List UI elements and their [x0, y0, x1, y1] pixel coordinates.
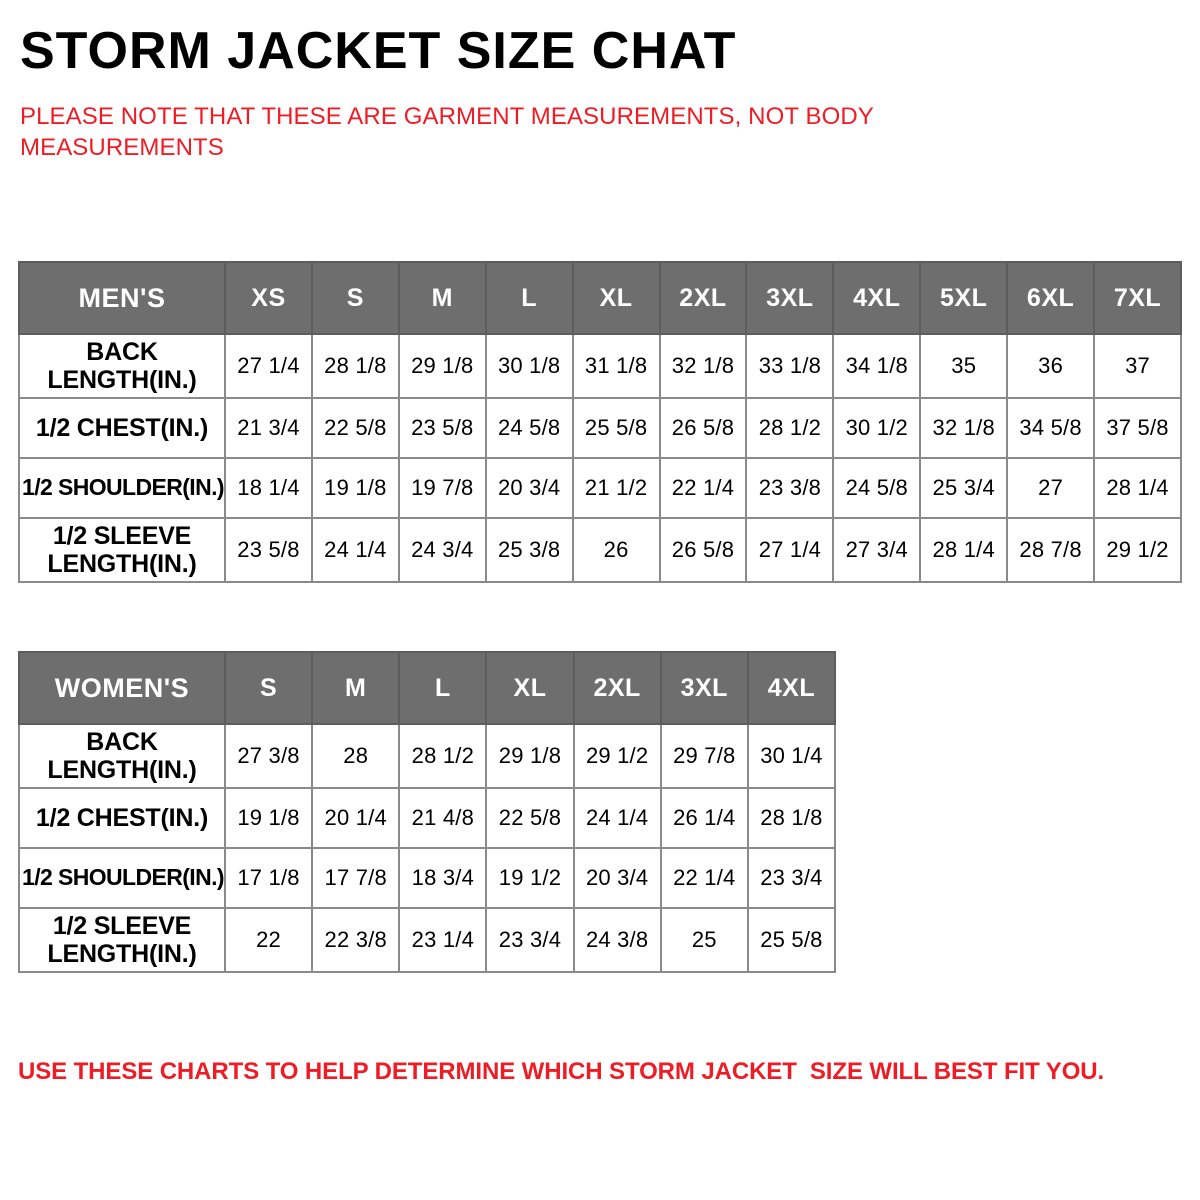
- mens-back-length-7xl: 37: [1094, 334, 1181, 398]
- mens-header-s: S: [312, 262, 399, 334]
- mens-back-length-l: 30 1/8: [486, 334, 573, 398]
- table-row: 1/2 SLEEVE LENGTH(IN.) 22 22 3/8 23 1/4 …: [19, 908, 835, 972]
- mens-corner-header: MEN'S: [19, 262, 225, 334]
- mens-shoulder-3xl: 23 3/8: [746, 458, 833, 518]
- mens-back-length-6xl: 36: [1007, 334, 1094, 398]
- womens-row-label-sleeve-length: 1/2 SLEEVE LENGTH(IN.): [19, 908, 225, 972]
- womens-back-length-line2: LENGTH(IN.): [47, 756, 196, 784]
- womens-chest-l: 21 4/8: [399, 788, 486, 848]
- womens-shoulder-4xl: 23 3/4: [748, 848, 835, 908]
- garment-measurement-note: PLEASE NOTE THAT THESE ARE GARMENT MEASU…: [18, 79, 980, 164]
- mens-back-length-xl: 31 1/8: [573, 334, 660, 398]
- mens-shoulder-xs: 18 1/4: [225, 458, 312, 518]
- table-row: 1/2 CHEST(IN.) 21 3/4 22 5/8 23 5/8 24 5…: [19, 398, 1181, 458]
- womens-sleeve-4xl: 25 5/8: [748, 908, 835, 972]
- table-row: BACK LENGTH(IN.) 27 1/4 28 1/8 29 1/8 30…: [19, 334, 1181, 398]
- womens-header-3xl: 3XL: [661, 652, 748, 724]
- mens-header-l: L: [486, 262, 573, 334]
- womens-row-label-back-length: BACK LENGTH(IN.): [19, 724, 225, 788]
- mens-back-length-s: 28 1/8: [312, 334, 399, 398]
- womens-header-l: L: [399, 652, 486, 724]
- womens-corner-header: WOMEN'S: [19, 652, 225, 724]
- womens-sleeve-l: 23 1/4: [399, 908, 486, 972]
- mens-back-length-m: 29 1/8: [399, 334, 486, 398]
- womens-back-length-xl: 29 1/8: [486, 724, 573, 788]
- mens-header-6xl: 6XL: [1007, 262, 1094, 334]
- mens-back-length-5xl: 35: [920, 334, 1007, 398]
- mens-sleeve-4xl: 27 3/4: [833, 518, 920, 582]
- mens-chest-m: 23 5/8: [399, 398, 486, 458]
- table-row: 1/2 CHEST(IN.) 19 1/8 20 1/4 21 4/8 22 5…: [19, 788, 835, 848]
- mens-shoulder-m: 19 7/8: [399, 458, 486, 518]
- womens-chest-s: 19 1/8: [225, 788, 312, 848]
- mens-sleeve-xl: 26: [573, 518, 660, 582]
- mens-header-3xl: 3XL: [746, 262, 833, 334]
- womens-shoulder-l: 18 3/4: [399, 848, 486, 908]
- mens-row-label-shoulder: 1/2 SHOULDER(IN.): [19, 458, 225, 518]
- mens-shoulder-4xl: 24 5/8: [833, 458, 920, 518]
- womens-back-length-m: 28: [312, 724, 399, 788]
- womens-shoulder-3xl: 22 1/4: [661, 848, 748, 908]
- page-title: STORM JACKET SIZE CHAT: [18, 0, 1182, 79]
- mens-sleeve-l: 25 3/8: [486, 518, 573, 582]
- mens-header-7xl: 7XL: [1094, 262, 1181, 334]
- womens-back-length-s: 27 3/8: [225, 724, 312, 788]
- womens-back-length-line1: BACK: [86, 728, 157, 756]
- womens-header-xl: XL: [486, 652, 573, 724]
- mens-chest-7xl: 37 5/8: [1094, 398, 1181, 458]
- mens-sleeve-s: 24 1/4: [312, 518, 399, 582]
- mens-shoulder-l: 20 3/4: [486, 458, 573, 518]
- mens-sleeve-line1: 1/2 SLEEVE: [53, 522, 191, 550]
- mens-row-label-sleeve-length: 1/2 SLEEVE LENGTH(IN.): [19, 518, 225, 582]
- womens-sleeve-line1: 1/2 SLEEVE: [53, 912, 191, 940]
- womens-chest-4xl: 28 1/8: [748, 788, 835, 848]
- mens-shoulder-s: 19 1/8: [312, 458, 399, 518]
- womens-row-label-chest: 1/2 CHEST(IN.): [19, 788, 225, 848]
- mens-back-length-line1: BACK: [86, 338, 157, 366]
- table-row: 1/2 SLEEVE LENGTH(IN.) 23 5/8 24 1/4 24 …: [19, 518, 1181, 582]
- mens-chest-xl: 25 5/8: [573, 398, 660, 458]
- mens-header-xl: XL: [573, 262, 660, 334]
- mens-shoulder-xl: 21 1/2: [573, 458, 660, 518]
- womens-chest-3xl: 26 1/4: [661, 788, 748, 848]
- mens-header-xs: XS: [225, 262, 312, 334]
- footer-instruction-text: USE THESE CHARTS TO HELP DETERMINE WHICH…: [18, 1058, 1104, 1086]
- table-row: 1/2 SHOULDER(IN.) 18 1/4 19 1/8 19 7/8 2…: [19, 458, 1181, 518]
- mens-header-4xl: 4XL: [833, 262, 920, 334]
- mens-sleeve-7xl: 29 1/2: [1094, 518, 1181, 582]
- womens-sleeve-m: 22 3/8: [312, 908, 399, 972]
- mens-chest-6xl: 34 5/8: [1007, 398, 1094, 458]
- mens-sleeve-m: 24 3/4: [399, 518, 486, 582]
- womens-sleeve-3xl: 25: [661, 908, 748, 972]
- womens-shoulder-xl: 19 1/2: [486, 848, 573, 908]
- womens-header-s: S: [225, 652, 312, 724]
- womens-shoulder-s: 17 1/8: [225, 848, 312, 908]
- mens-sleeve-5xl: 28 1/4: [920, 518, 1007, 582]
- womens-shoulder-m: 17 7/8: [312, 848, 399, 908]
- mens-shoulder-2xl: 22 1/4: [660, 458, 747, 518]
- mens-sleeve-3xl: 27 1/4: [746, 518, 833, 582]
- mens-chest-4xl: 30 1/2: [833, 398, 920, 458]
- mens-chest-l: 24 5/8: [486, 398, 573, 458]
- mens-sleeve-2xl: 26 5/8: [660, 518, 747, 582]
- womens-back-length-l: 28 1/2: [399, 724, 486, 788]
- mens-back-length-4xl: 34 1/8: [833, 334, 920, 398]
- mens-chest-s: 22 5/8: [312, 398, 399, 458]
- womens-back-length-2xl: 29 1/2: [574, 724, 661, 788]
- mens-shoulder-5xl: 25 3/4: [920, 458, 1007, 518]
- womens-table-header-row: WOMEN'S S M L XL 2XL 3XL 4XL: [19, 652, 835, 724]
- womens-chest-2xl: 24 1/4: [574, 788, 661, 848]
- mens-shoulder-6xl: 27: [1007, 458, 1094, 518]
- womens-shoulder-2xl: 20 3/4: [574, 848, 661, 908]
- womens-back-length-3xl: 29 7/8: [661, 724, 748, 788]
- mens-row-label-chest: 1/2 CHEST(IN.): [19, 398, 225, 458]
- mens-chest-3xl: 28 1/2: [746, 398, 833, 458]
- mens-size-table-container: MEN'S XS S M L XL 2XL 3XL 4XL 5XL 6XL 7X…: [18, 261, 1182, 583]
- womens-sleeve-s: 22: [225, 908, 312, 972]
- table-row: 1/2 SHOULDER(IN.) 17 1/8 17 7/8 18 3/4 1…: [19, 848, 835, 908]
- mens-back-length-line2: LENGTH(IN.): [47, 366, 196, 394]
- mens-chest-5xl: 32 1/8: [920, 398, 1007, 458]
- table-row: BACK LENGTH(IN.) 27 3/8 28 28 1/2 29 1/8…: [19, 724, 835, 788]
- womens-size-table: WOMEN'S S M L XL 2XL 3XL 4XL BACK LENGTH…: [18, 651, 836, 973]
- womens-chest-xl: 22 5/8: [486, 788, 573, 848]
- womens-sleeve-line2: LENGTH(IN.): [47, 940, 196, 968]
- mens-back-length-3xl: 33 1/8: [746, 334, 833, 398]
- mens-sleeve-xs: 23 5/8: [225, 518, 312, 582]
- mens-back-length-xs: 27 1/4: [225, 334, 312, 398]
- womens-sleeve-2xl: 24 3/8: [574, 908, 661, 972]
- mens-chest-xs: 21 3/4: [225, 398, 312, 458]
- womens-header-4xl: 4XL: [748, 652, 835, 724]
- womens-row-label-shoulder: 1/2 SHOULDER(IN.): [19, 848, 225, 908]
- size-chart-page: STORM JACKET SIZE CHAT PLEASE NOTE THAT …: [0, 0, 1200, 1200]
- mens-sleeve-6xl: 28 7/8: [1007, 518, 1094, 582]
- mens-chest-2xl: 26 5/8: [660, 398, 747, 458]
- womens-chest-m: 20 1/4: [312, 788, 399, 848]
- womens-size-table-container: WOMEN'S S M L XL 2XL 3XL 4XL BACK LENGTH…: [18, 651, 836, 973]
- mens-back-length-2xl: 32 1/8: [660, 334, 747, 398]
- mens-header-2xl: 2XL: [660, 262, 747, 334]
- womens-sleeve-xl: 23 3/4: [486, 908, 573, 972]
- mens-size-table: MEN'S XS S M L XL 2XL 3XL 4XL 5XL 6XL 7X…: [18, 261, 1182, 583]
- mens-shoulder-7xl: 28 1/4: [1094, 458, 1181, 518]
- womens-header-2xl: 2XL: [574, 652, 661, 724]
- mens-table-header-row: MEN'S XS S M L XL 2XL 3XL 4XL 5XL 6XL 7X…: [19, 262, 1181, 334]
- womens-back-length-4xl: 30 1/4: [748, 724, 835, 788]
- mens-header-m: M: [399, 262, 486, 334]
- womens-header-m: M: [312, 652, 399, 724]
- mens-row-label-back-length: BACK LENGTH(IN.): [19, 334, 225, 398]
- mens-sleeve-line2: LENGTH(IN.): [47, 550, 196, 578]
- mens-header-5xl: 5XL: [920, 262, 1007, 334]
